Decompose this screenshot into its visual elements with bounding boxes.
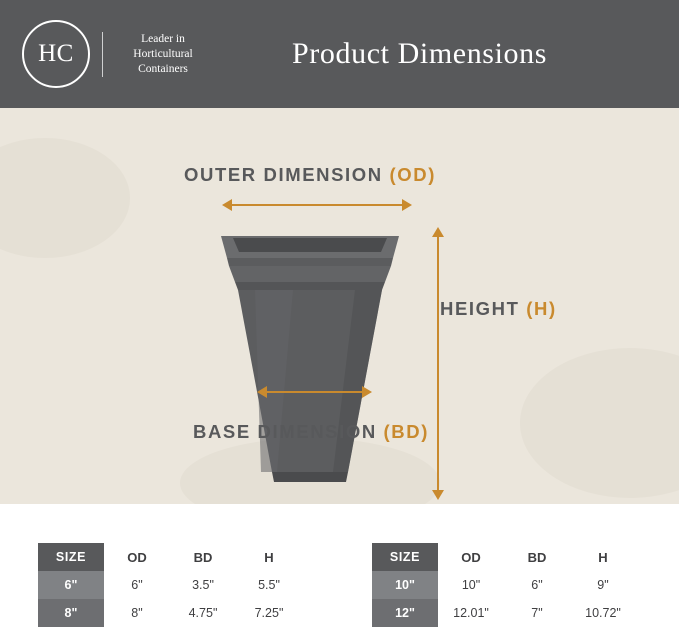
base-dimension-arrow bbox=[266, 391, 363, 393]
column-header-bd: BD bbox=[170, 543, 236, 571]
column-header-bd: BD bbox=[504, 543, 570, 571]
height-abbr: (H) bbox=[526, 298, 556, 319]
table-header-row: SIZE OD BD H bbox=[38, 543, 302, 571]
cell-od: 10" bbox=[438, 571, 504, 599]
table-row: 10" 10" 6" 9" bbox=[372, 571, 636, 599]
logo-tagline-line3: Containers bbox=[115, 62, 211, 77]
cell-od: 6" bbox=[104, 571, 170, 599]
table-row: 6" 6" 3.5" 5.5" bbox=[38, 571, 302, 599]
cell-size: 12" bbox=[372, 599, 438, 627]
column-header-od: OD bbox=[104, 543, 170, 571]
column-header-h: H bbox=[236, 543, 302, 571]
height-text: HEIGHT bbox=[440, 298, 520, 319]
height-label: HEIGHT (H) bbox=[440, 298, 557, 320]
cell-h: 7.25" bbox=[236, 599, 302, 627]
cell-size: 10" bbox=[372, 571, 438, 599]
cell-size: 6" bbox=[38, 571, 104, 599]
dimension-table-left: SIZE OD BD H 6" 6" 3.5" 5.5" 8" 8" 4.75" bbox=[38, 543, 302, 627]
outer-dimension-abbr: (OD) bbox=[389, 164, 435, 185]
cell-h: 10.72" bbox=[570, 599, 636, 627]
dimension-table-right: SIZE OD BD H 10" 10" 6" 9" 12" 12.01" 7" bbox=[372, 543, 636, 627]
cell-bd: 6" bbox=[504, 571, 570, 599]
outer-dimension-arrow bbox=[231, 204, 403, 206]
outer-dimension-text: OUTER DIMENSION bbox=[184, 164, 383, 185]
base-dimension-abbr: (BD) bbox=[384, 421, 429, 442]
cell-bd: 7" bbox=[504, 599, 570, 627]
header-bar: HC Leader in Horticultural Containers Pr… bbox=[0, 0, 679, 108]
background-texture-blob-1 bbox=[0, 138, 130, 258]
planter-illustration bbox=[215, 224, 405, 504]
column-header-h: H bbox=[570, 543, 636, 571]
table-row: 8" 8" 4.75" 7.25" bbox=[38, 599, 302, 627]
background-texture-blob-2 bbox=[520, 348, 679, 498]
table-row: 12" 12.01" 7" 10.72" bbox=[372, 599, 636, 627]
height-arrow bbox=[437, 236, 439, 491]
column-header-size: SIZE bbox=[372, 543, 438, 571]
cell-h: 5.5" bbox=[236, 571, 302, 599]
brand-logo: HC Leader in Horticultural Containers bbox=[0, 20, 211, 88]
cell-h: 9" bbox=[570, 571, 636, 599]
base-dimension-text: BASE DIMENSION bbox=[193, 421, 377, 442]
logo-tagline-line2: Horticultural bbox=[115, 47, 211, 62]
logo-initials: HC bbox=[38, 40, 74, 68]
cell-od: 12.01" bbox=[438, 599, 504, 627]
cell-bd: 3.5" bbox=[170, 571, 236, 599]
logo-tagline-line1: Leader in bbox=[115, 32, 211, 47]
logo-tagline: Leader in Horticultural Containers bbox=[102, 32, 211, 77]
cell-bd: 4.75" bbox=[170, 599, 236, 627]
column-header-size: SIZE bbox=[38, 543, 104, 571]
cell-size: 8" bbox=[38, 599, 104, 627]
cell-od: 8" bbox=[104, 599, 170, 627]
product-dimensions-page: HC Leader in Horticultural Containers Pr… bbox=[0, 0, 679, 636]
table-header-row: SIZE OD BD H bbox=[372, 543, 636, 571]
diagram-area: OUTER DIMENSION (OD) BASE DIMENS bbox=[0, 108, 679, 504]
column-header-od: OD bbox=[438, 543, 504, 571]
base-dimension-label: BASE DIMENSION (BD) bbox=[193, 421, 429, 443]
outer-dimension-label: OUTER DIMENSION (OD) bbox=[184, 164, 436, 186]
dimension-tables: SIZE OD BD H 6" 6" 3.5" 5.5" 8" 8" 4.75" bbox=[0, 504, 679, 636]
hc-monogram-icon: HC bbox=[22, 20, 90, 88]
